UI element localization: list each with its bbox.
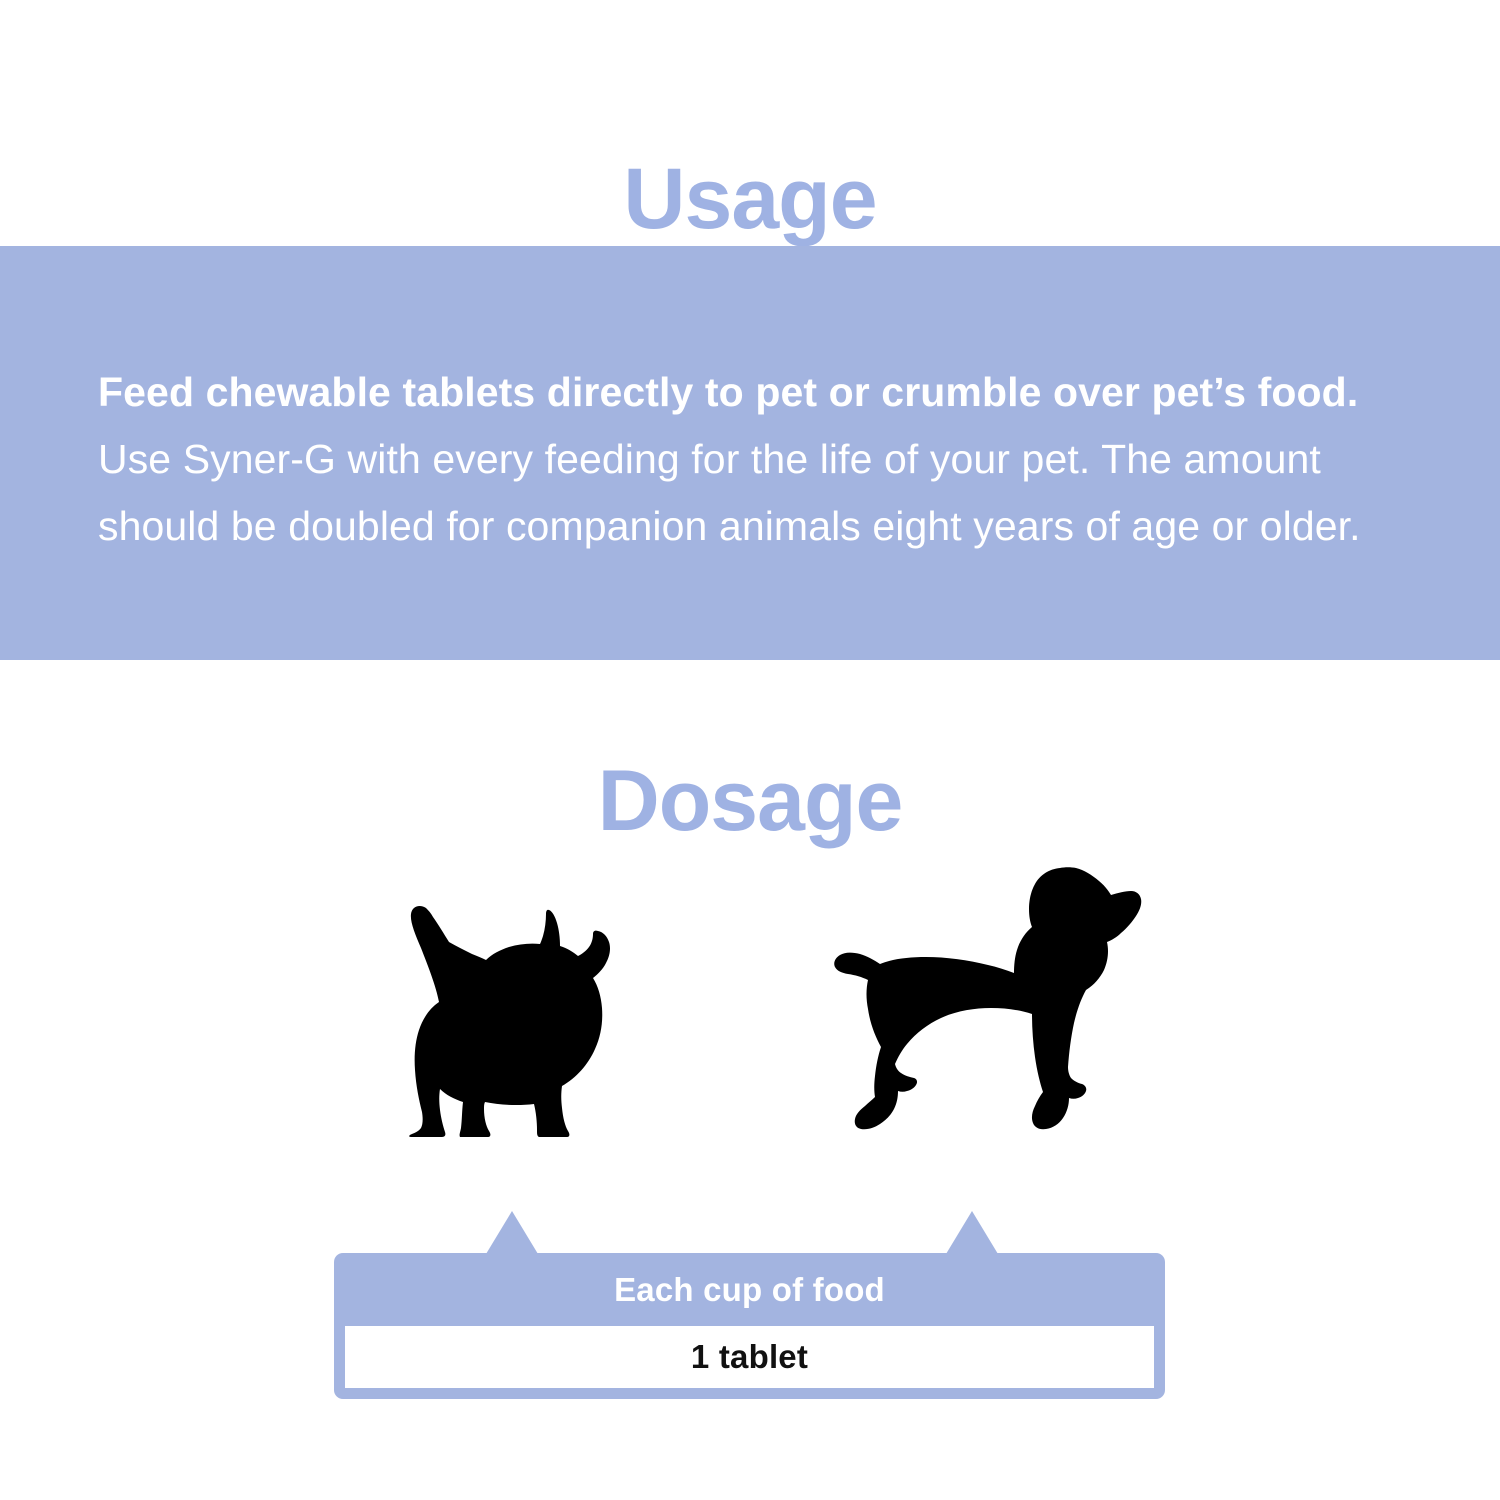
dosage-pointer-cat xyxy=(486,1211,538,1254)
usage-instruction-band: Feed chewable tablets directly to pet or… xyxy=(0,246,1500,660)
usage-dosage-infographic: Usage Feed chewable tablets directly to … xyxy=(0,0,1500,1500)
page-title-usage: Usage xyxy=(0,156,1500,242)
dosage-table-header: Each cup of food xyxy=(334,1253,1165,1326)
usage-instruction-text: Feed chewable tablets directly to pet or… xyxy=(98,359,1418,560)
dosage-table-value: 1 tablet xyxy=(345,1326,1154,1388)
dosage-pointer-dog xyxy=(946,1211,998,1254)
dog-icon xyxy=(828,860,1148,1138)
usage-instruction-body: Use Syner-G with every feeding for the l… xyxy=(98,436,1361,549)
cat-icon xyxy=(390,890,630,1138)
usage-instruction-lead: Feed chewable tablets directly to pet or… xyxy=(98,369,1358,415)
dosage-animal-row xyxy=(0,855,1500,1145)
page-title-dosage: Dosage xyxy=(0,758,1500,844)
dosage-table: Each cup of food 1 tablet xyxy=(334,1253,1165,1399)
